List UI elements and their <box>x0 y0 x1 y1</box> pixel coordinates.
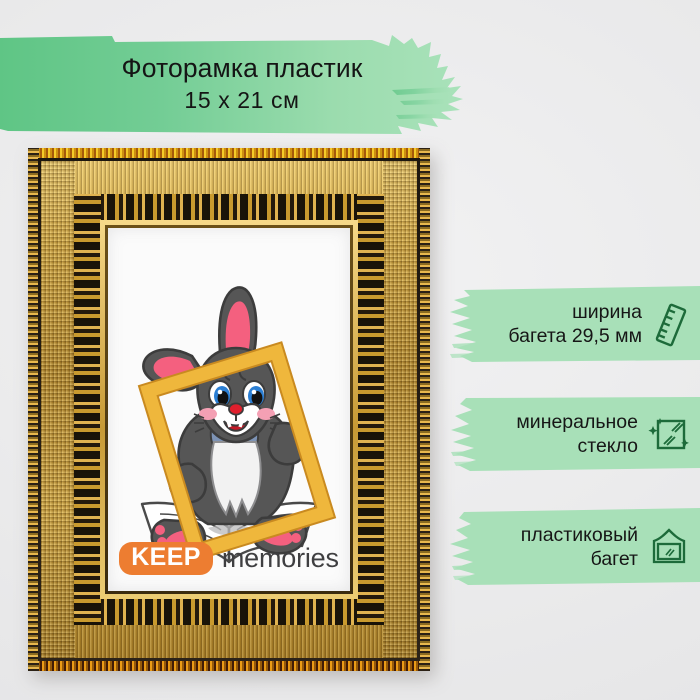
brand-keep-mark: KEEP <box>119 542 213 575</box>
badge-glass-text: минеральное стекло <box>516 411 638 459</box>
header-banner: Фоторамка пластик 15 x 21 см <box>0 30 470 138</box>
picture-frame-icon <box>647 526 691 570</box>
product-title: Фоторамка пластик <box>122 54 363 84</box>
product-image-canvas: Фоторамка пластик 15 x 21 см ширина баге… <box>0 0 700 700</box>
brand-memories-word: memories <box>222 543 339 574</box>
frame-photo-area: KEEP memories <box>108 228 350 591</box>
product-size: 15 x 21 см <box>184 88 299 114</box>
badge-width-text: ширина багета 29,5 мм <box>508 301 642 349</box>
feature-badge-glass: минеральное стекло <box>450 392 700 478</box>
feature-badge-width: ширина багета 29,5 мм <box>450 282 700 368</box>
product-title-block: Фоторамка пластик 15 x 21 см <box>0 30 470 138</box>
photo-frame-product: KEEP memories <box>28 148 430 671</box>
bunny-mascot-artwork <box>108 228 350 591</box>
ruler-icon <box>651 302 691 348</box>
badge-moulding-text: пластиковый багет <box>521 524 638 572</box>
glass-pane-icon <box>647 413 691 457</box>
feature-badge-moulding: пластиковый багет <box>450 505 700 591</box>
brand-logo-block: KEEP memories <box>108 542 350 575</box>
